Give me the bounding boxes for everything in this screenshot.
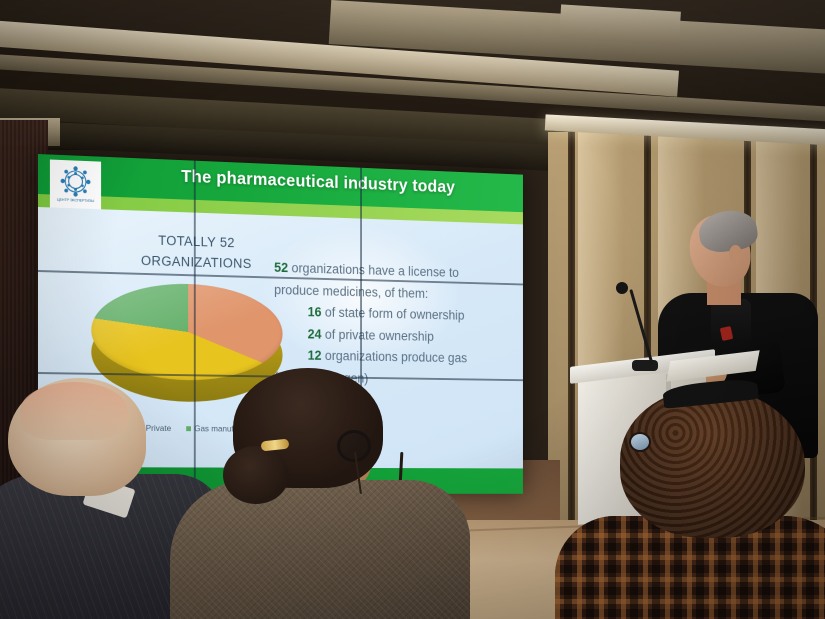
audience-member-right bbox=[585, 388, 825, 619]
bullet-number: 12 bbox=[308, 348, 322, 363]
audience-right-hair-texture bbox=[620, 388, 805, 538]
snowflake-icon: ЦЕНТР ЭКСПЕРТИЗЫ bbox=[55, 164, 96, 205]
bullet-text: organizations produce gas bbox=[325, 348, 467, 365]
bullet-text: of private ownership bbox=[325, 327, 434, 344]
audience-left-scalp bbox=[20, 382, 128, 440]
lead-number: 52 bbox=[274, 260, 288, 275]
photo-scene: The pharmaceutical industry today bbox=[0, 0, 825, 619]
speaker-ear bbox=[729, 245, 742, 263]
speaker-hair bbox=[696, 207, 759, 255]
audience-center-bun bbox=[223, 446, 289, 504]
bullet-number: 24 bbox=[308, 326, 322, 341]
audience-member-center bbox=[195, 368, 450, 619]
bullet-number: 16 bbox=[308, 305, 322, 320]
audience-right-glasses bbox=[629, 432, 651, 452]
audience-center-jacket-texture bbox=[170, 480, 470, 619]
lapel-pin bbox=[720, 326, 733, 341]
microphone-base bbox=[632, 360, 658, 371]
ceiling-block bbox=[559, 4, 681, 45]
logo-caption: ЦЕНТР ЭКСПЕРТИЗЫ bbox=[57, 198, 94, 203]
chart-heading: TOTALLY 52 ORGANIZATIONS bbox=[115, 229, 277, 275]
microphone-head bbox=[616, 282, 628, 294]
company-logo: ЦЕНТР ЭКСПЕРТИЗЫ bbox=[50, 159, 101, 209]
bullet-text: of state form of ownership bbox=[325, 305, 465, 323]
